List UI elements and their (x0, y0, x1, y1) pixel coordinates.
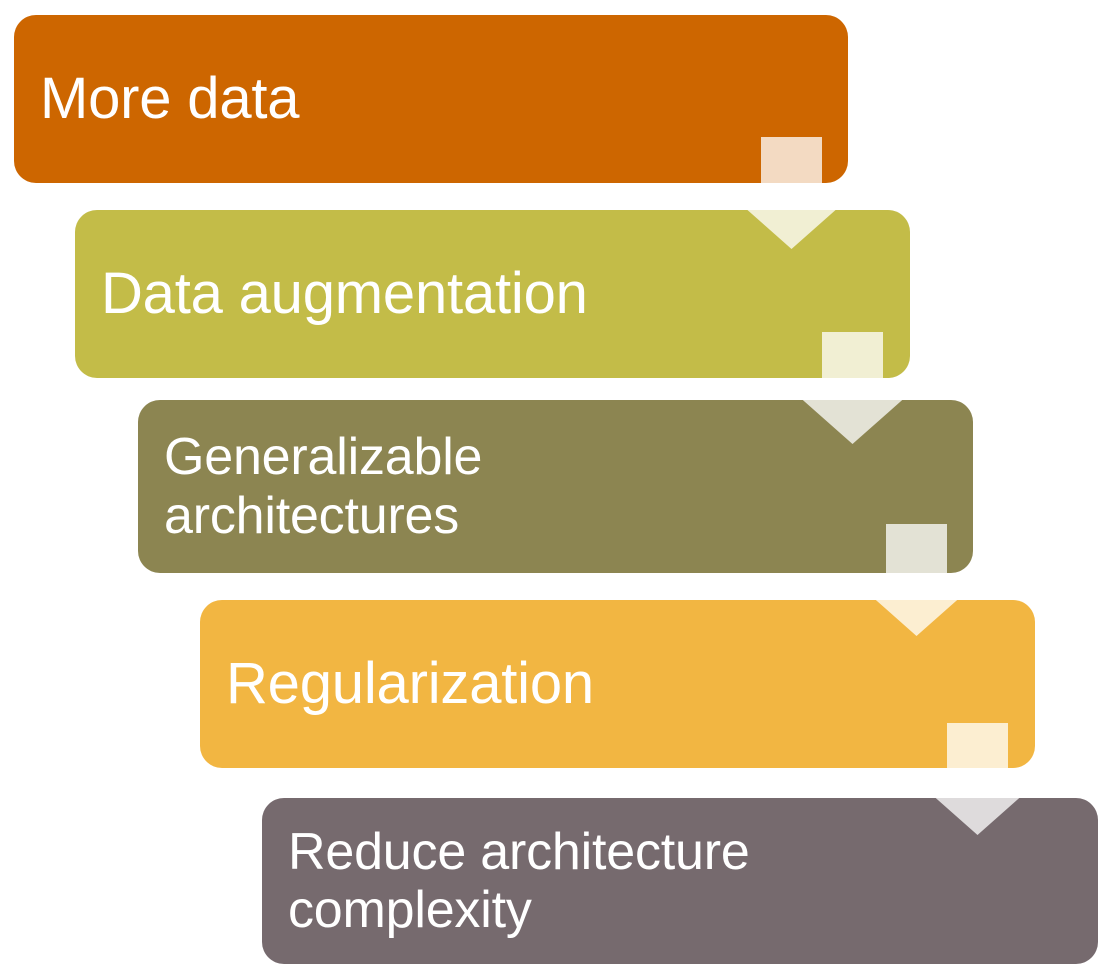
stage-label: More data (40, 67, 299, 132)
stage-label: Generalizable architectures (164, 428, 482, 544)
stage-label: Regularization (226, 652, 594, 717)
stage-box-regularization[interactable]: Regularization (200, 600, 1035, 768)
stage-box-more-data[interactable]: More data (14, 15, 848, 183)
stage-box-data-augmentation[interactable]: Data augmentation (75, 210, 910, 378)
stage-label: Data augmentation (101, 262, 588, 327)
process-flow-diagram: More data Data augmentation Generalizabl… (0, 0, 1110, 979)
stage-box-reduce-architecture-complexity[interactable]: Reduce architecture complexity (262, 798, 1098, 964)
stage-label: Reduce architecture complexity (288, 823, 750, 939)
stage-box-generalizable-architectures[interactable]: Generalizable architectures (138, 400, 973, 573)
